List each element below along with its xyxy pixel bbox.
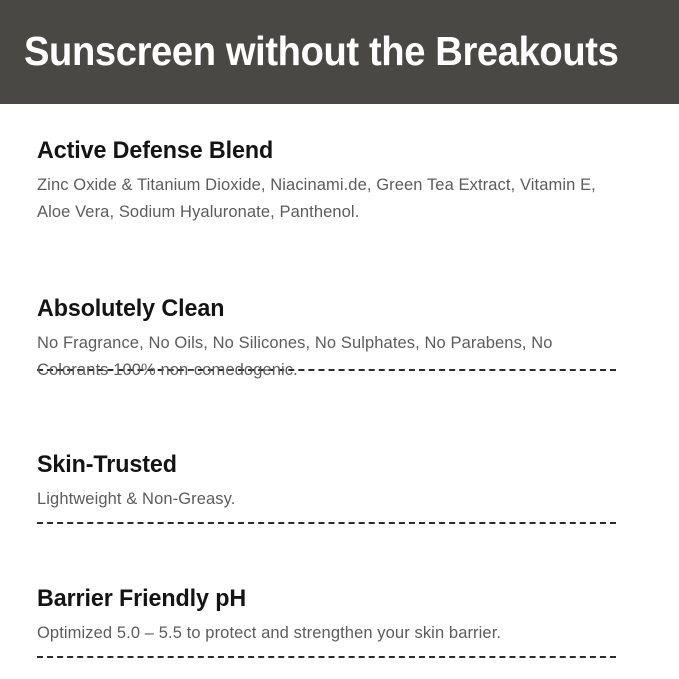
page-title: Sunscreen without the Breakouts (24, 30, 618, 73)
section-body: Zinc Oxide & Titanium Dioxide, Niacinami… (37, 172, 602, 226)
section-heading: Active Defense Blend (37, 137, 600, 165)
section-absolutely-clean: Absolutely Clean No Fragrance, No Oils, … (37, 295, 617, 384)
section-body: No Fragrance, No Oils, No Silicones, No … (37, 330, 602, 384)
section-heading: Barrier Friendly pH (37, 585, 600, 613)
section-heading: Absolutely Clean (37, 295, 600, 323)
section-skin-trusted: Skin-Trusted Lightweight & Non-Greasy. (37, 451, 617, 513)
section-divider (37, 656, 616, 658)
product-info-card: Sunscreen without the Breakouts Active D… (0, 0, 679, 679)
section-body: Lightweight & Non-Greasy. (37, 486, 602, 513)
content-area: Active Defense Blend Zinc Oxide & Titani… (0, 104, 679, 679)
section-barrier-friendly-ph: Barrier Friendly pH Optimized 5.0 – 5.5 … (37, 585, 617, 647)
header-banner: Sunscreen without the Breakouts (0, 0, 679, 104)
section-divider (37, 522, 616, 524)
section-heading: Skin-Trusted (37, 451, 600, 479)
section-active-defense-blend: Active Defense Blend Zinc Oxide & Titani… (37, 137, 617, 226)
section-body: Optimized 5.0 – 5.5 to protect and stren… (37, 620, 617, 647)
